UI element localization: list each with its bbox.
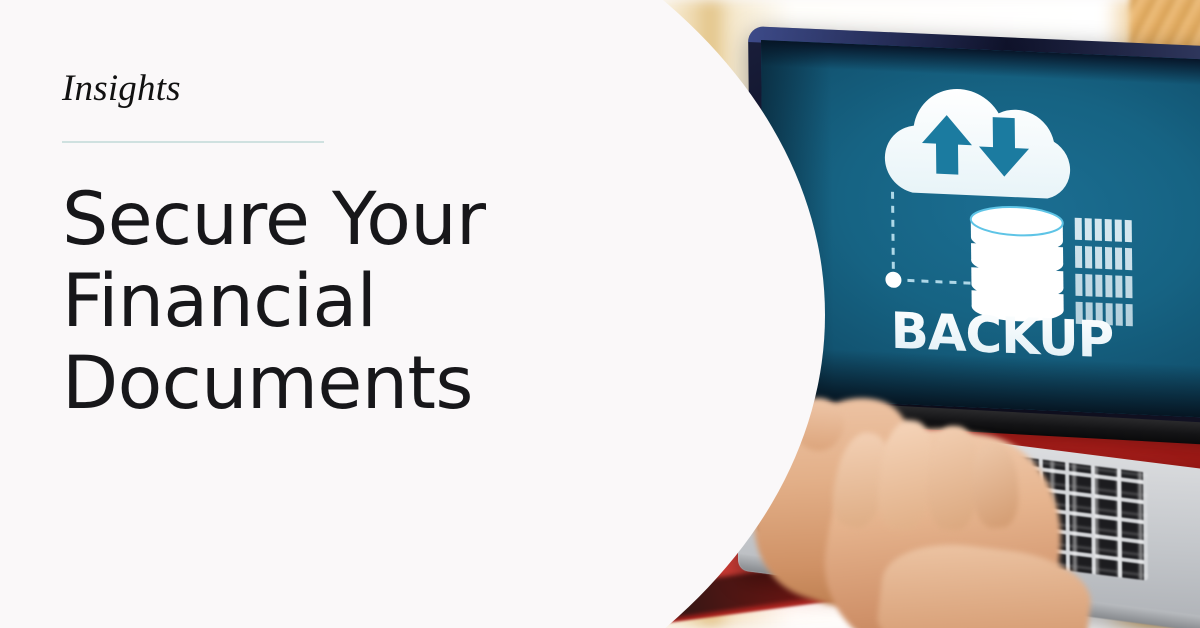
banner-canvas: BACKUP Insights [0, 0, 1200, 628]
headline-line-1: Secure Your [62, 179, 582, 261]
eyebrow-label: Insights [62, 70, 582, 107]
headline-line-3: Documents [62, 343, 582, 425]
backup-graphic: BACKUP [849, 78, 1152, 366]
page-title: Secure Your Financial Documents [62, 179, 582, 424]
laptop-screen: BACKUP [761, 40, 1200, 418]
headline-line-2: Financial [62, 261, 582, 343]
text-block: Insights Secure Your Financial Documents [62, 70, 582, 473]
divider-rule [62, 141, 324, 143]
connector-node [885, 271, 901, 288]
cloud-icon [884, 86, 1070, 200]
